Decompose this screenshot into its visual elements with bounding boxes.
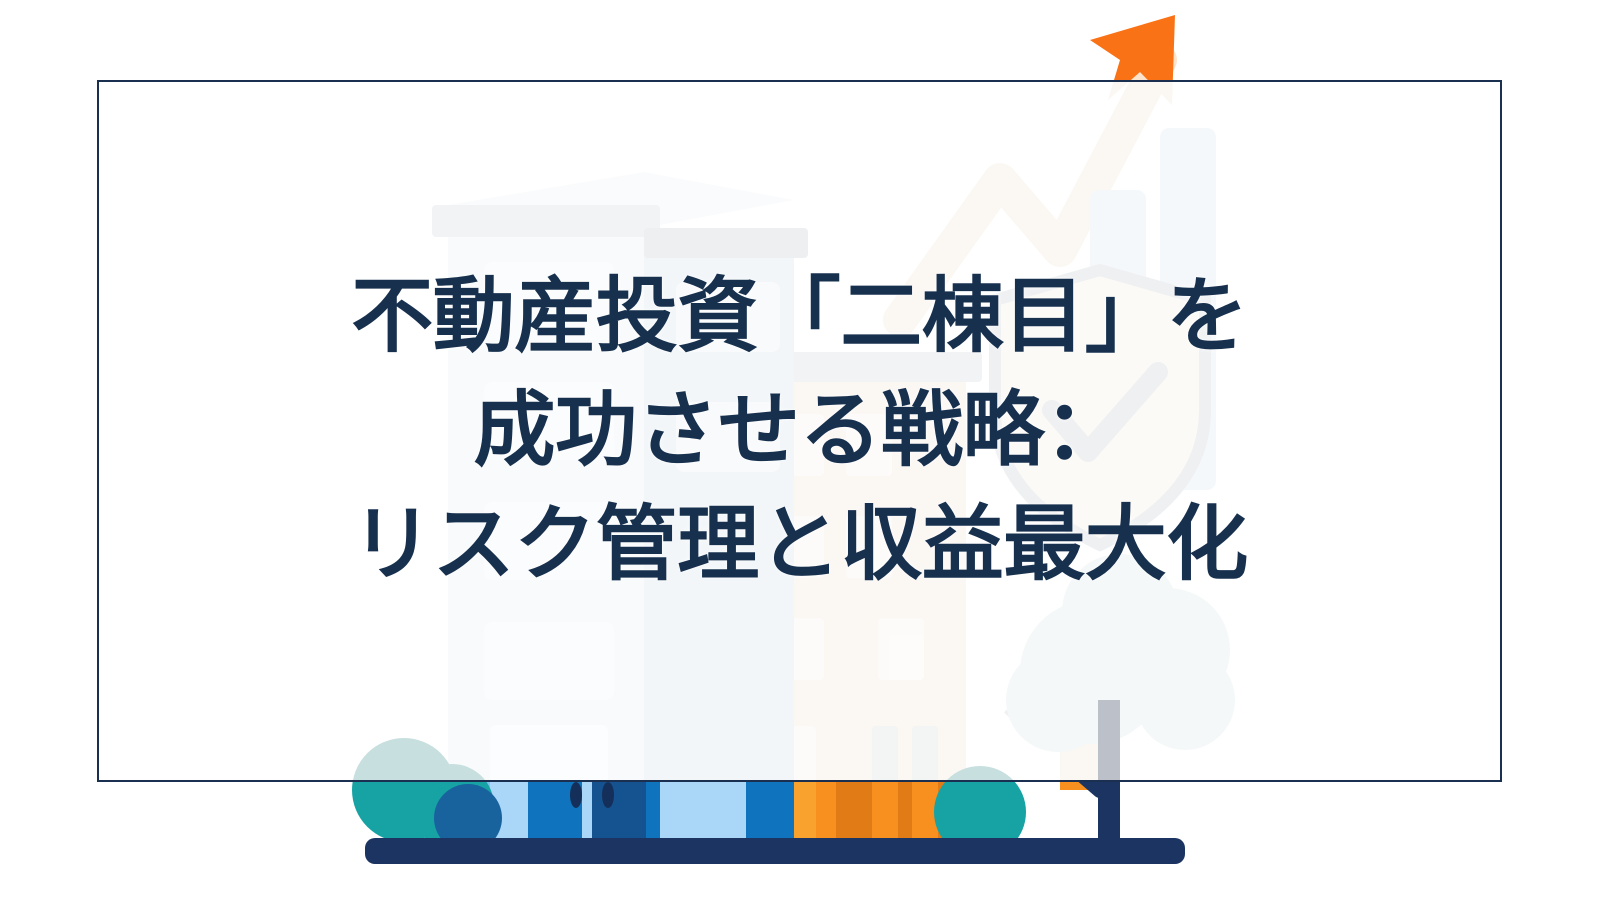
- building-1-knob-a: [570, 782, 582, 808]
- headline-block: 不動産投資「二棟目」を 成功させる戦略： リスク管理と収益最大化: [97, 80, 1502, 782]
- headline-line-2: 成功させる戦略：: [473, 374, 1125, 488]
- headline-line-1: 不動産投資「二棟目」を: [351, 260, 1248, 374]
- ground-bar: [365, 838, 1185, 864]
- banner-canvas: 不動産投資「二棟目」を 成功させる戦略： リスク管理と収益最大化: [0, 0, 1600, 900]
- headline-line-3: リスク管理と収益最大化: [351, 488, 1248, 602]
- building-1-knob-b: [602, 782, 614, 808]
